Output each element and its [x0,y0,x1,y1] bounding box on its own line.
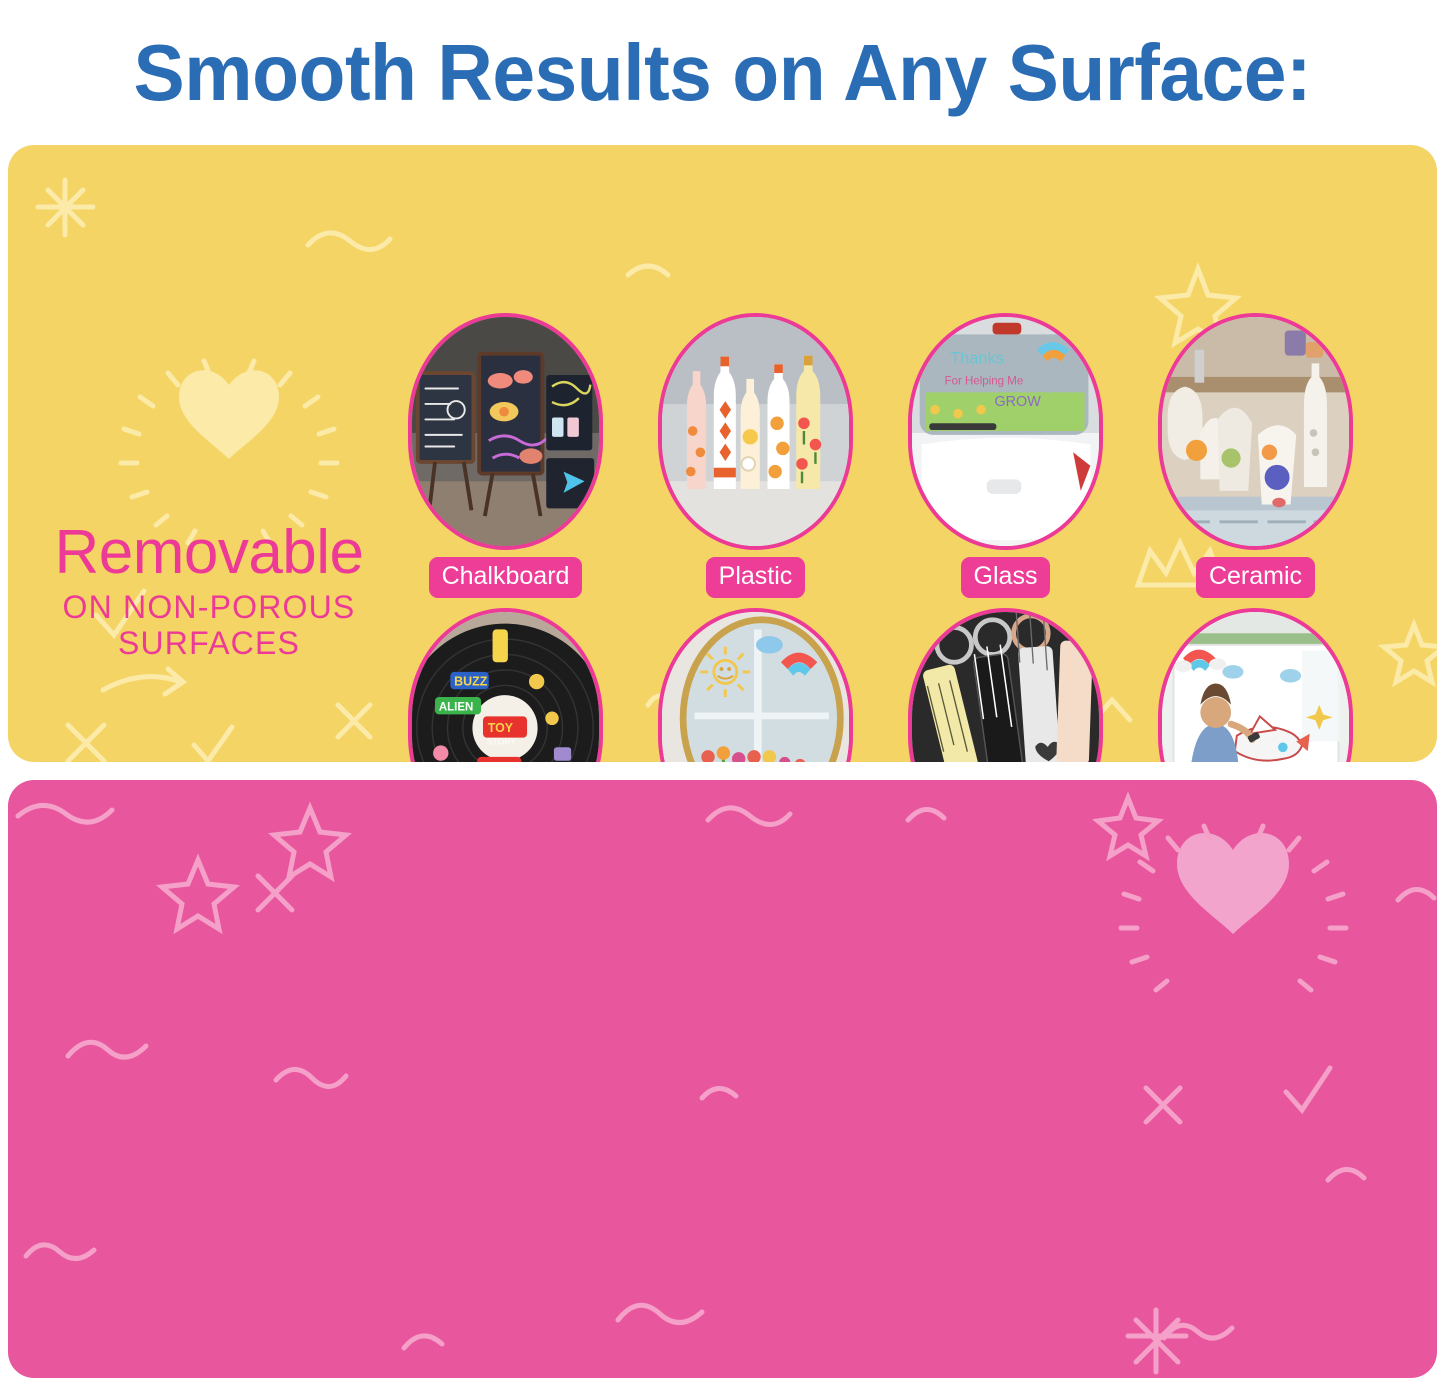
svg-text:BUZZ: BUZZ [454,674,488,688]
removable-panel: Removable ON NON-POROUS SURFACES [8,145,1437,762]
painted-plastic-bottles-photo [658,313,853,550]
svg-text:LOTSO: LOTSO [481,761,521,762]
removable-headline: Removable [14,521,404,584]
pink-doodle-layer [8,780,1437,1378]
decorated-round-mirror-photo [658,608,853,762]
tile-glass[interactable]: Thanks For Helping Me GROW Glass [908,313,1103,598]
header: Smooth Results on Any Surface: [0,0,1445,145]
decorated-car-rear-window-photo: Thanks For Helping Me GROW [908,313,1103,550]
removable-headline-block: Removable ON NON-POROUS SURFACES [14,521,404,662]
svg-text:TOY: TOY [488,721,514,735]
tile-metal[interactable]: Metal [908,608,1103,762]
tile-mirror[interactable]: Mirror [658,608,853,762]
removable-tile-grid: Chalkboard [408,313,1353,762]
heart-icon [1177,833,1289,934]
tile-label-glass: Glass [961,557,1051,598]
svg-text:STORY: STORY [487,736,517,746]
tile-label-plastic: Plastic [706,557,806,598]
heart-icon [179,370,279,459]
sticker-covered-vinyl-record-photo: TOY STORY BUZZ ALIEN LOTSO [408,608,603,762]
svg-text:For Helping Me: For Helping Me [945,376,1024,388]
page-title: Smooth Results on Any Surface: [134,33,1312,113]
engraved-metal-keychain-tags-photo [908,608,1103,762]
tile-plastic[interactable]: Plastic [658,313,853,598]
svg-text:GROW: GROW [994,394,1041,410]
child-drawing-on-whiteboard-photo [1158,608,1353,762]
svg-text:Thanks: Thanks [950,349,1003,367]
tile-chalkboard[interactable]: Chalkboard [408,313,603,598]
tile-ceramic[interactable]: Ceramic [1158,313,1353,598]
tile-label-ceramic: Ceramic [1196,557,1315,598]
permanent-panel: Permanent ON POROUS SURFACES [8,780,1437,1378]
tile-vinyl[interactable]: TOY STORY BUZZ ALIEN LOTSO [408,608,603,762]
removable-subline-1: ON NON-POROUS [14,590,404,626]
svg-text:ALIEN: ALIEN [439,702,474,714]
painted-ceramic-pottery-photo [1158,313,1353,550]
tile-whiteboard[interactable]: Whiteboard [1158,608,1353,762]
chalkboard-menu-signs-photo [408,313,603,550]
removable-subline-2: SURFACES [14,626,404,662]
tile-label-chalkboard: Chalkboard [429,557,583,598]
